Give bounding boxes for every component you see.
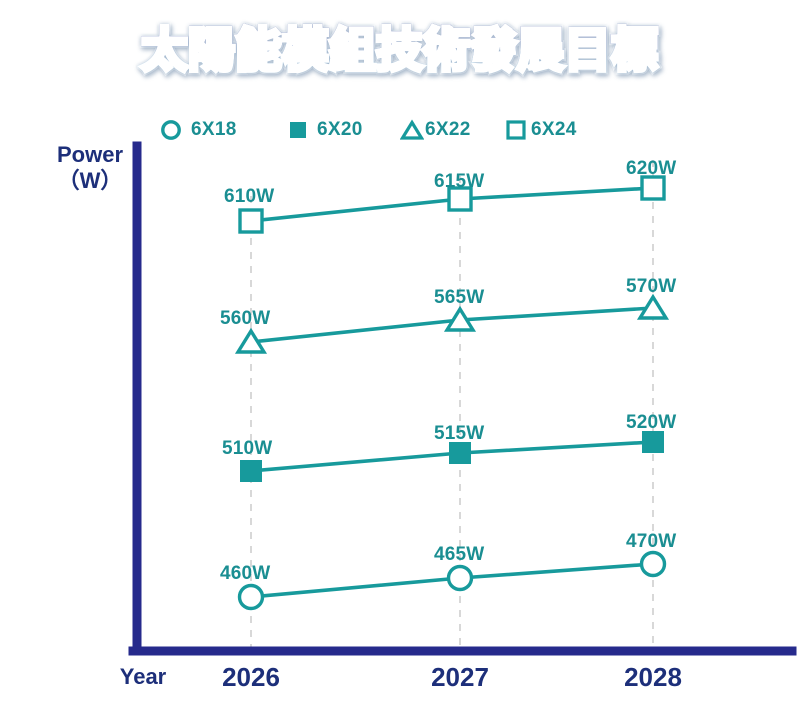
legend-item-6x24[interactable]: 6X24 — [505, 114, 605, 146]
data-label-6x24-2026: 610W — [224, 186, 274, 208]
data-label-6x18-2027: 465W — [434, 544, 484, 566]
chart-plot-area — [0, 0, 800, 726]
legend-label-6x18: 6X18 — [191, 119, 237, 141]
filled-square-icon — [288, 120, 308, 140]
x-axis-title: Year — [88, 664, 198, 690]
open-triangle-icon — [400, 119, 424, 141]
data-label-6x20-2027: 515W — [434, 423, 484, 445]
legend-item-6x22[interactable]: 6X22 — [400, 114, 505, 146]
data-label-6x20-2026: 510W — [222, 438, 272, 460]
data-label-6x20-2028: 520W — [626, 412, 676, 434]
x-tick-2027: 2027 — [400, 662, 520, 693]
data-label-6x18-2026: 460W — [220, 563, 270, 585]
data-label-6x22-2026: 560W — [220, 308, 270, 330]
data-label-6x22-2028: 570W — [626, 276, 676, 298]
legend-item-6x20[interactable]: 6X20 — [288, 114, 400, 146]
open-circle-icon — [160, 119, 182, 141]
series-6x24-marker-2028 — [642, 177, 664, 199]
y-axis-title: Power （W） — [44, 142, 136, 194]
open-square-icon — [505, 119, 527, 141]
y-axis-title-line1: Power — [44, 142, 136, 168]
legend-label-6x20: 6X20 — [317, 119, 363, 141]
series-6x20-marker-2027 — [449, 442, 471, 464]
y-axis-title-line2: （W） — [44, 168, 136, 194]
series-6x24-marker-2026 — [240, 210, 262, 232]
chart-legend: 6X18 6X20 6X22 6X24 — [160, 114, 605, 146]
legend-label-6x24: 6X24 — [531, 119, 577, 141]
x-tick-2026: 2026 — [191, 662, 311, 693]
data-label-6x24-2027: 615W — [434, 171, 484, 193]
series-6x18-marker-2026 — [240, 586, 263, 609]
series-6x18-marker-2027 — [449, 567, 472, 590]
legend-label-6x22: 6X22 — [425, 119, 471, 141]
series-6x20-marker-2026 — [240, 460, 262, 482]
x-tick-2028: 2028 — [593, 662, 713, 693]
data-label-6x18-2028: 470W — [626, 531, 676, 553]
legend-item-6x18[interactable]: 6X18 — [160, 114, 288, 146]
data-label-6x22-2027: 565W — [434, 287, 484, 309]
series-6x18-marker-2028 — [642, 553, 665, 576]
data-label-6x24-2028: 620W — [626, 158, 676, 180]
series-6x20-marker-2028 — [642, 431, 664, 453]
